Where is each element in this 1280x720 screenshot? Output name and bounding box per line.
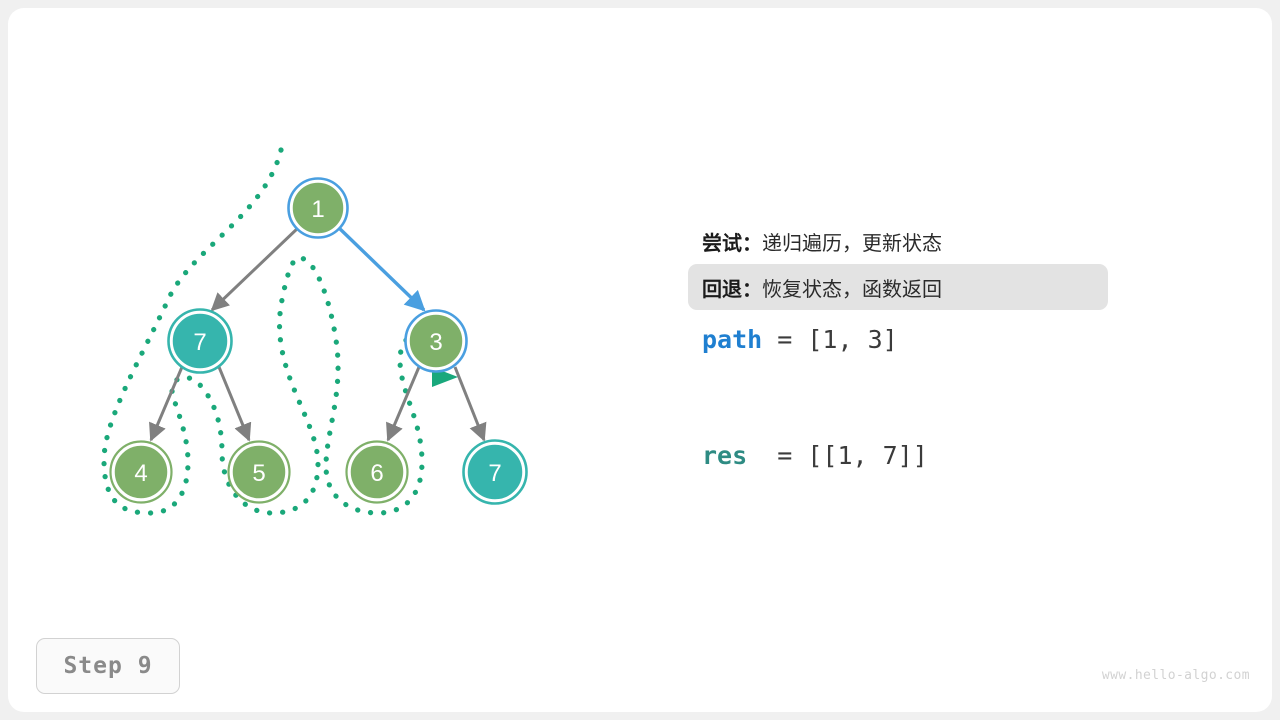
tree-node-4-label: 4	[134, 460, 147, 487]
variable-path-equals: =	[762, 325, 807, 354]
tree-node-1-label: 1	[311, 196, 324, 223]
variable-spacer	[688, 368, 1108, 426]
variable-res-equals: =	[747, 441, 807, 470]
tree-node-6-label: 6	[370, 460, 383, 487]
tree-node-7-right-label: 7	[488, 460, 501, 487]
info-line-backtrack: 回退：恢复状态，函数返回	[688, 264, 1108, 310]
watermark: www.hello-algo.com	[1102, 668, 1250, 683]
variable-path-name: path	[702, 325, 762, 354]
variable-path: path = [1, 3]	[688, 310, 1108, 368]
info-line-backtrack-body: 恢复状态，函数返回	[762, 273, 942, 302]
screenshot-stage: 1 7 3 4 5	[0, 0, 1280, 720]
tree-node-4[interactable]: 4	[111, 442, 172, 503]
variable-res: res = [[1, 7]]	[688, 426, 1108, 484]
tree-node-7-right[interactable]: 7	[464, 441, 527, 504]
info-line-try-label: 尝试：	[702, 227, 762, 256]
tree-node-7-left-label: 7	[193, 329, 206, 356]
tree-node-5[interactable]: 5	[229, 442, 290, 503]
tree-node-1[interactable]: 1	[289, 179, 348, 238]
edge-1-to-3	[338, 227, 424, 310]
tree-node-6[interactable]: 6	[347, 442, 408, 503]
tree-node-7-left[interactable]: 7	[169, 310, 232, 373]
edge-7l-to-5	[219, 367, 249, 440]
variable-res-value: [[1, 7]]	[807, 441, 927, 470]
info-line-try: 尝试：递归遍历，更新状态	[688, 218, 1108, 264]
edge-1-to-7l	[212, 227, 299, 310]
info-line-try-body: 递归遍历，更新状态	[762, 227, 942, 256]
tree-node-3[interactable]: 3	[406, 311, 467, 372]
info-panel: 尝试：递归遍历，更新状态 回退：恢复状态，函数返回 path = [1, 3] …	[688, 218, 1108, 484]
info-line-backtrack-label: 回退：	[702, 273, 762, 302]
edge-3-to-7r	[455, 367, 484, 440]
variable-res-name: res	[702, 441, 747, 470]
step-badge: Step 9	[36, 638, 180, 694]
tree-node-3-label: 3	[429, 329, 442, 356]
variable-path-value: [1, 3]	[807, 325, 897, 354]
tree-node-5-label: 5	[252, 460, 265, 487]
